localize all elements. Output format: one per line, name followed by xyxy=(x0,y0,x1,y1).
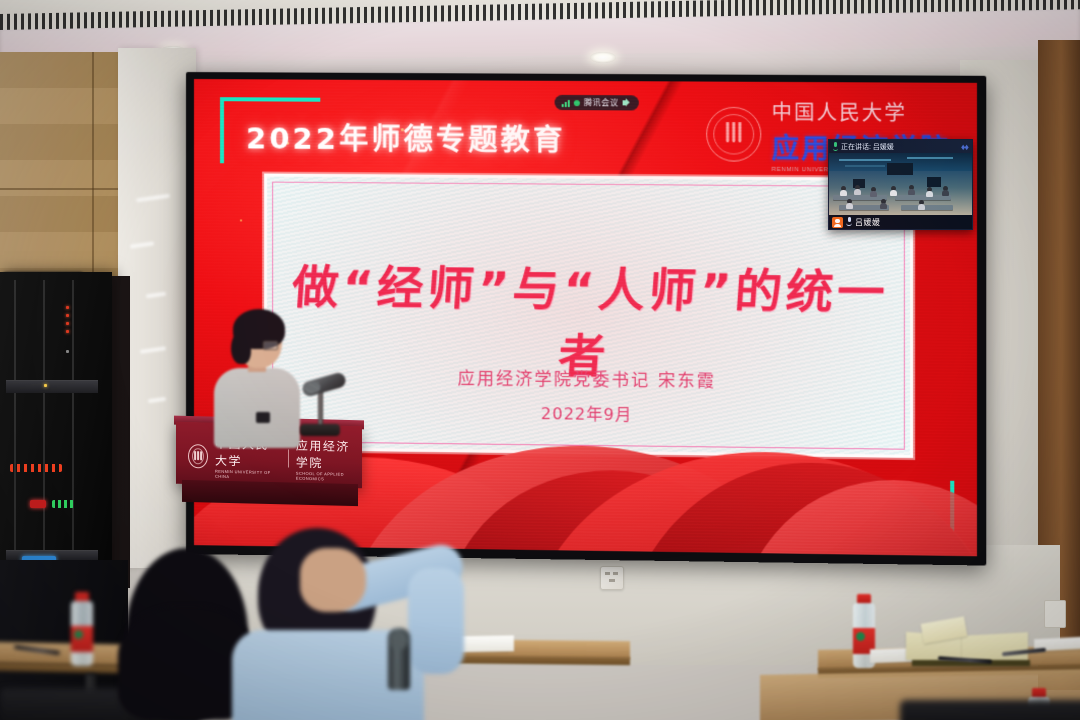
handheld-microphone xyxy=(388,628,410,690)
pip-participant-bar: 吕媛媛 xyxy=(829,215,972,229)
audience-member-forearm xyxy=(408,568,464,674)
green-dot-icon xyxy=(574,100,580,106)
university-seal-icon xyxy=(188,444,208,468)
slide-header-text: 2022年师德专题教育 xyxy=(246,115,565,159)
signal-bars-icon xyxy=(562,98,570,106)
pip-titlebar: 正在讲话: 吕媛媛 ♦♦ xyxy=(829,140,972,153)
university-seal-icon xyxy=(706,107,761,162)
podium-college-name: 应用经济学院 xyxy=(296,437,362,473)
av-equipment-rack xyxy=(0,272,112,592)
podium-university-name-en: RENMIN UNIVERSITY OF CHINA xyxy=(215,469,281,481)
downlight-icon xyxy=(590,52,616,63)
microphone-icon xyxy=(833,142,838,151)
wall-outlet xyxy=(600,566,624,590)
tencent-meeting-status-pill: 腾讯会议 xyxy=(555,95,639,111)
podium-college-name-en: SCHOOL OF APPLIED ECONOMICS xyxy=(296,471,362,483)
pip-video-feed xyxy=(829,153,972,215)
light-switch-plate[interactable] xyxy=(1044,600,1066,628)
pip-brand-mark: ♦♦ xyxy=(961,142,968,152)
person-avatar-icon xyxy=(832,217,843,228)
audience-member-hand xyxy=(300,548,366,612)
slide-university-name: 中国人民大学 xyxy=(772,96,951,126)
water-bottle xyxy=(69,592,95,666)
speaker-icon xyxy=(623,98,632,107)
pip-participant-name: 吕媛媛 xyxy=(855,217,881,228)
lecture-hall-screenshot: 2022年师德专题教育 腾讯会议 中国人民大学 应用经济学院 RENMIN UN… xyxy=(0,0,1080,720)
eyeglasses xyxy=(263,341,278,350)
microphone-base xyxy=(300,424,340,436)
slide-presenter-line: 应用经济学院党委书记 宋东霞 xyxy=(267,362,910,394)
chair-back xyxy=(900,700,1080,720)
podium-base xyxy=(182,480,358,506)
pip-speaking-label: 正在讲话: 吕媛媛 xyxy=(841,142,894,152)
presentation-clicker[interactable] xyxy=(256,412,270,423)
meeting-app-name: 腾讯会议 xyxy=(584,97,619,108)
wall-seam xyxy=(0,188,132,190)
tencent-meeting-pip-window[interactable]: 正在讲话: 吕媛媛 ♦♦ xyxy=(828,139,973,230)
microphone-icon xyxy=(846,217,852,227)
